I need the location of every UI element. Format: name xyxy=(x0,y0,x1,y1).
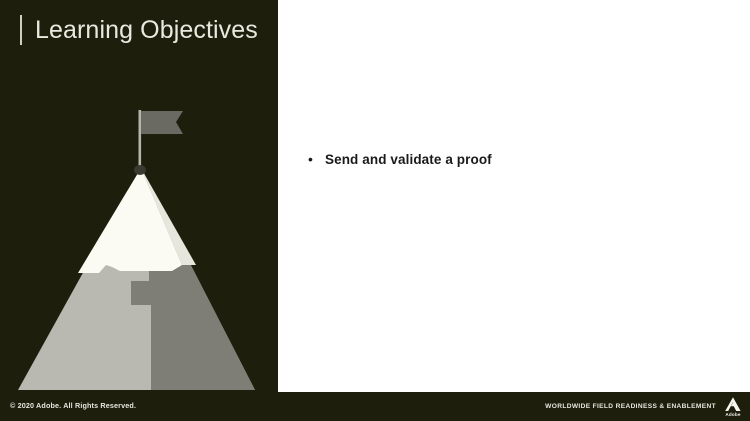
list-item: • Send and validate a proof xyxy=(304,150,724,169)
footer-copyright: © 2020 Adobe. All Rights Reserved. xyxy=(10,401,136,410)
adobe-a-icon xyxy=(723,396,743,412)
slide-content-area: • Send and validate a proof xyxy=(278,0,750,392)
mountain-illustration xyxy=(0,95,278,392)
slide-footer: © 2020 Adobe. All Rights Reserved. WORLD… xyxy=(0,392,750,421)
flag-banner xyxy=(141,111,183,134)
adobe-wordmark: Adobe xyxy=(725,413,740,418)
title-accent-rule xyxy=(20,15,22,45)
objectives-bullet-list: • Send and validate a proof xyxy=(304,150,724,179)
footer-tagline: WORLDWIDE FIELD READINESS & ENABLEMENT xyxy=(545,403,716,410)
footer-branding: WORLDWIDE FIELD READINESS & ENABLEMENT A… xyxy=(545,392,744,421)
flag-pole-base xyxy=(134,165,146,175)
adobe-logo: Adobe xyxy=(722,395,744,419)
slide-title-block: Learning Objectives xyxy=(20,11,258,49)
page-title: Learning Objectives xyxy=(35,18,258,43)
mountain-svg xyxy=(0,95,278,392)
flag-pole xyxy=(139,110,142,170)
bullet-marker-icon: • xyxy=(304,150,325,169)
slide-canvas: Learning Objectives • Send and xyxy=(0,0,750,421)
bullet-text: Send and validate a proof xyxy=(325,150,492,169)
